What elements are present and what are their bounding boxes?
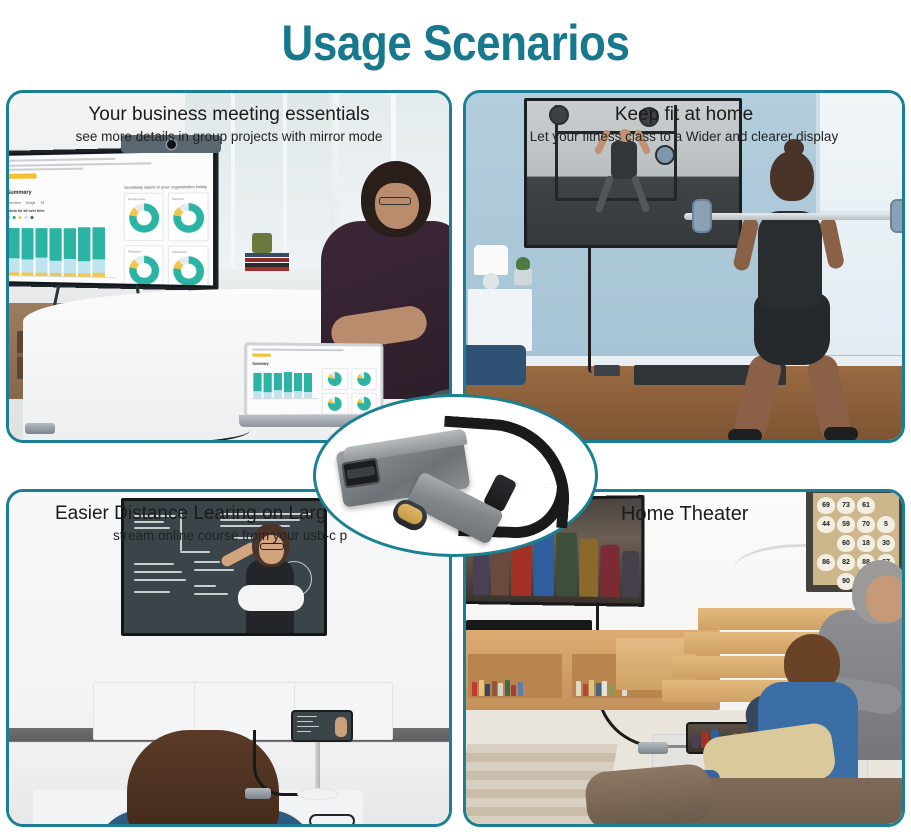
remote-control bbox=[594, 365, 620, 376]
donut-chart bbox=[173, 256, 204, 286]
conference-tv: Summary Overview Usage All labels for al… bbox=[6, 146, 219, 291]
tab-usage[interactable]: Usage bbox=[26, 201, 36, 205]
instructor-body bbox=[611, 141, 637, 179]
console-shelf bbox=[468, 654, 562, 698]
teacher-sleeve bbox=[238, 585, 304, 611]
weight-plate bbox=[639, 107, 659, 127]
paddle-number: 44 bbox=[817, 516, 835, 533]
weight-plate bbox=[655, 145, 675, 165]
lesson-tv bbox=[121, 498, 327, 636]
paddle-number: 69 bbox=[817, 497, 835, 514]
donut-card-label: Reports bbox=[172, 197, 184, 201]
adult-viewer-face bbox=[866, 576, 905, 622]
book-row bbox=[472, 678, 523, 696]
tv-power-cable bbox=[588, 245, 592, 373]
donut-card-grid: Dashboards Reports Datasets Dataflows bbox=[124, 192, 209, 285]
panel-keep-fit-at-home[interactable]: Keep fit at home Let your fitness class … bbox=[463, 90, 905, 443]
paddle-number: 70 bbox=[857, 516, 875, 533]
donut-card-label: Dataflows bbox=[172, 250, 186, 254]
paddle-number: 82 bbox=[837, 554, 855, 571]
dashboard-cards-region: Sensitivity labels in your organization … bbox=[124, 184, 209, 281]
donut-card: Dashboards bbox=[124, 193, 164, 242]
adapter-cable bbox=[35, 419, 250, 443]
phone-screen bbox=[293, 712, 351, 740]
athlete-shoe-right bbox=[824, 427, 858, 441]
athlete-sports-bra bbox=[758, 211, 822, 307]
bar-chart bbox=[6, 223, 115, 285]
donut-card: Reports bbox=[168, 192, 209, 241]
meeting-participant-head bbox=[361, 161, 431, 237]
adapter-plug bbox=[25, 423, 55, 434]
barbell-plate-right bbox=[890, 199, 905, 233]
product-overlay bbox=[313, 394, 598, 557]
tab-overview[interactable]: Overview bbox=[7, 201, 21, 205]
phone-stand-pole bbox=[315, 738, 320, 792]
donut-card: Datasets bbox=[124, 245, 164, 285]
page-title: Usage Scenarios bbox=[55, 0, 857, 86]
sofa-armrest bbox=[584, 763, 715, 827]
weight-plate bbox=[549, 105, 569, 125]
paddle-number: 5 bbox=[877, 516, 895, 533]
dashboard-tabs[interactable]: Overview Usage All bbox=[7, 201, 44, 205]
donut-card-label: Dashboards bbox=[128, 197, 145, 201]
participant-glasses bbox=[379, 197, 411, 205]
athlete-head bbox=[770, 151, 814, 201]
teacher-head bbox=[252, 523, 290, 567]
dashboard-view: Summary Overview Usage All labels for al… bbox=[6, 152, 213, 286]
nightstand bbox=[468, 289, 532, 351]
dashboard-right-title: Sensitivity labels in your organization … bbox=[124, 184, 209, 190]
donut-card: Dataflows bbox=[168, 245, 209, 285]
instructor-head bbox=[619, 129, 631, 142]
table-lamp bbox=[474, 245, 508, 275]
paddle-number: 59 bbox=[837, 516, 855, 533]
barbell-plate-left bbox=[692, 199, 712, 233]
scene-keep-fit bbox=[466, 93, 902, 440]
reading-glasses bbox=[309, 814, 355, 827]
desk-plant bbox=[252, 233, 272, 253]
chart-legend bbox=[7, 216, 34, 219]
dashboard-section-label: labels for all over time bbox=[7, 209, 45, 213]
scene-business-meeting: Summary Overview Usage All labels for al… bbox=[9, 93, 449, 440]
tv-screen: Summary Overview Usage All labels for al… bbox=[6, 152, 213, 286]
mirrored-phone bbox=[291, 710, 353, 742]
athlete-hair-bun bbox=[784, 139, 804, 157]
participant-face bbox=[375, 183, 419, 229]
paddle-number: 30 bbox=[877, 535, 895, 552]
tab-all[interactable]: All bbox=[40, 201, 44, 205]
usb-c-to-hdmi-adapter bbox=[313, 394, 598, 557]
athlete-shoe-left bbox=[728, 429, 762, 443]
adult-viewer-head bbox=[852, 560, 905, 624]
bed-corner bbox=[463, 345, 526, 385]
teacher-glasses bbox=[260, 543, 284, 550]
paddle-number: 61 bbox=[857, 497, 875, 514]
book-stack bbox=[245, 253, 289, 270]
chalkboard-video bbox=[124, 501, 324, 633]
usb-c-adapter-inline bbox=[245, 788, 271, 799]
phone-stand-base bbox=[297, 788, 339, 800]
paddle-number: 18 bbox=[857, 535, 875, 552]
donut-chart bbox=[173, 203, 204, 233]
yellow-cushion bbox=[902, 758, 905, 810]
hdmi-port bbox=[341, 457, 381, 488]
laptop-summary-title: Summary bbox=[252, 362, 268, 366]
donut-chart bbox=[129, 203, 159, 232]
conference-camera bbox=[121, 135, 221, 153]
donut-card-label: Datasets bbox=[128, 249, 141, 253]
potted-plant bbox=[514, 269, 532, 285]
paddle-number: 86 bbox=[817, 554, 835, 571]
barbell-bar bbox=[684, 213, 905, 220]
dashboard-summary-title: Summary bbox=[7, 190, 32, 196]
dashboard-cta-button[interactable] bbox=[7, 173, 37, 178]
donut-chart bbox=[129, 255, 159, 285]
dashboard-header bbox=[7, 156, 207, 180]
paddle-number: 73 bbox=[837, 497, 855, 514]
panel-business-meeting[interactable]: Summary Overview Usage All labels for al… bbox=[6, 90, 452, 443]
paddle-number: 60 bbox=[837, 535, 855, 552]
usb-c-adapter-inline bbox=[638, 742, 668, 754]
